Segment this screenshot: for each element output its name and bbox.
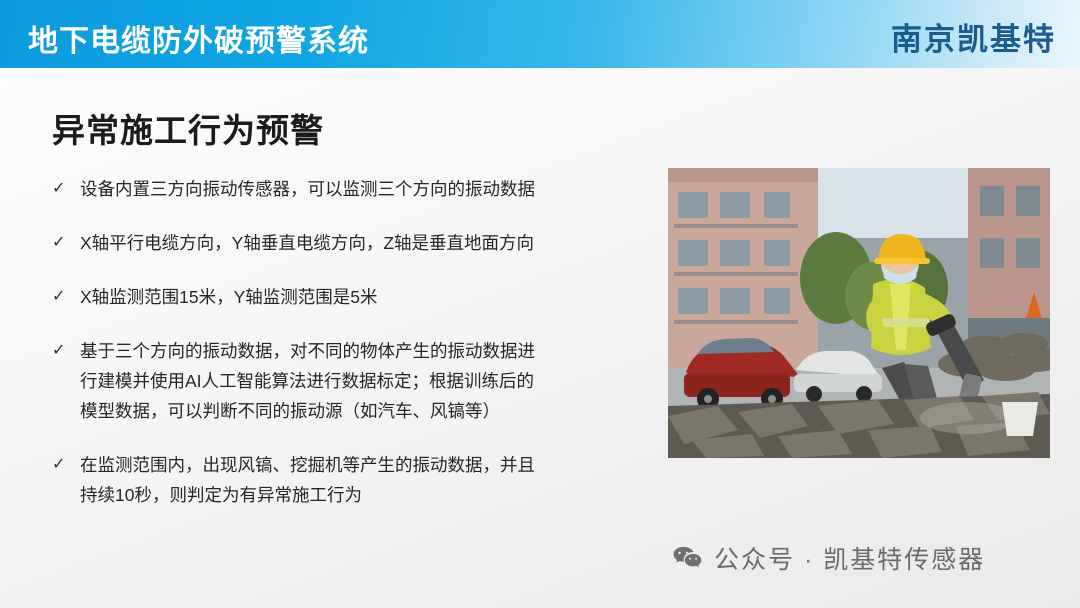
list-item-label: X轴平行电缆方向，Y轴垂直电缆方向，Z轴是垂直地面方向 — [80, 228, 650, 258]
list-item: ✓ X轴监测范围15米，Y轴监测范围是5米 — [50, 282, 650, 312]
page-title: 异常施工行为预警 — [52, 104, 324, 152]
check-icon: ✓ — [52, 450, 65, 480]
list-item: ✓ 在监测范围内，出现风镐、挖掘机等产生的振动数据，并且 持续10秒，则判定为有… — [50, 450, 650, 510]
list-item-label: X轴监测范围15米，Y轴监测范围是5米 — [80, 282, 650, 312]
slide-body: 异常施工行为预警 ✓ 设备内置三方向振动传感器，可以监测三个方向的振动数据 ✓ … — [0, 68, 1080, 608]
list-item-label: 基于三个方向的振动数据，对不同的物体产生的振动数据进 行建模并使用AI人工智能算… — [80, 336, 650, 426]
list-item: ✓ X轴平行电缆方向，Y轴垂直电缆方向，Z轴是垂直地面方向 — [50, 228, 650, 258]
check-icon: ✓ — [52, 336, 65, 366]
company-brand: 南京凯基特 — [891, 14, 1056, 59]
wechat-icon — [672, 545, 702, 571]
bullet-list: ✓ 设备内置三方向振动传感器，可以监测三个方向的振动数据 ✓ X轴平行电缆方向，… — [50, 174, 650, 534]
construction-photo — [668, 168, 1050, 458]
check-icon: ✓ — [52, 282, 65, 312]
watermark-label: 公众号 · 凯基特传感器 — [714, 540, 985, 576]
system-title: 地下电缆防外破预警系统 — [28, 16, 369, 60]
check-icon: ✓ — [52, 228, 65, 258]
list-item-label: 在监测范围内，出现风镐、挖掘机等产生的振动数据，并且 持续10秒，则判定为有异常… — [80, 450, 650, 510]
slide-header: 地下电缆防外破预警系统 南京凯基特 — [0, 0, 1080, 68]
watermark: 公众号 · 凯基特传感器 — [672, 540, 985, 576]
list-item: ✓ 基于三个方向的振动数据，对不同的物体产生的振动数据进 行建模并使用AI人工智… — [50, 336, 650, 426]
list-item: ✓ 设备内置三方向振动传感器，可以监测三个方向的振动数据 — [50, 174, 650, 204]
check-icon: ✓ — [52, 174, 65, 204]
list-item-label: 设备内置三方向振动传感器，可以监测三个方向的振动数据 — [80, 174, 650, 204]
